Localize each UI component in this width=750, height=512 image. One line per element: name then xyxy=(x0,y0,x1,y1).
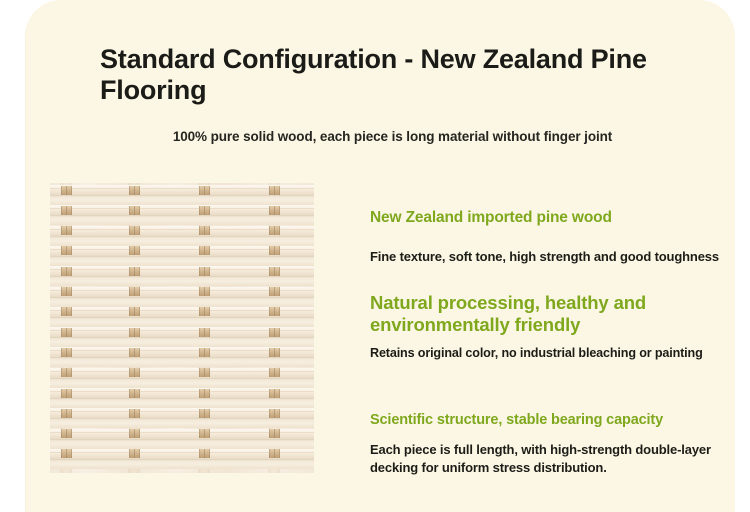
slat-cleat xyxy=(61,206,72,215)
slat-cleat xyxy=(61,368,72,377)
slat-cleat xyxy=(269,267,280,276)
feature-item-1: New Zealand imported pine wood Fine text… xyxy=(370,209,735,265)
slat-gap xyxy=(50,256,314,266)
slat-gap xyxy=(50,215,314,225)
slat-cleat xyxy=(129,368,140,377)
slat-cleat xyxy=(61,186,72,195)
slat-cleat xyxy=(129,206,140,215)
page-subtitle: 100% pure solid wood, each piece is long… xyxy=(100,129,685,144)
slat-cleat xyxy=(269,307,280,316)
slat-cleat xyxy=(129,409,140,418)
slat-cleat xyxy=(61,389,72,398)
page-title: Standard Configuration - New Zealand Pin… xyxy=(100,44,680,106)
slat-gap xyxy=(50,439,314,449)
slat-gap xyxy=(50,337,314,347)
slat-cleat xyxy=(269,186,280,195)
slat-cleat xyxy=(129,267,140,276)
slat-cleat xyxy=(129,328,140,337)
feature-item-2: Natural processing, healthy and environm… xyxy=(370,292,710,362)
slat-gap xyxy=(50,459,314,469)
slat-cleat xyxy=(199,246,210,255)
slat-cleat xyxy=(199,226,210,235)
slat-cleat xyxy=(61,267,72,276)
slat-gap xyxy=(50,317,314,327)
feature-heading: Natural processing, healthy and environm… xyxy=(370,292,710,335)
slat-cleat xyxy=(269,409,280,418)
slat-cleat xyxy=(129,287,140,296)
slat-gap xyxy=(50,236,314,246)
slat-cleat xyxy=(61,246,72,255)
product-feature-card: Standard Configuration - New Zealand Pin… xyxy=(25,0,735,512)
slat-cleat xyxy=(129,389,140,398)
slat-cleat xyxy=(269,226,280,235)
slat-cleat xyxy=(199,328,210,337)
slat-cleat xyxy=(269,368,280,377)
slat-cleat xyxy=(61,429,72,438)
feature-item-3: Scientific structure, stable bearing cap… xyxy=(370,412,735,476)
slat-cleat xyxy=(61,409,72,418)
slat-cleat xyxy=(61,449,72,458)
slat-cleat xyxy=(269,328,280,337)
slat-cleat xyxy=(61,348,72,357)
panel-edge-divider xyxy=(25,0,26,512)
slat-cleat xyxy=(199,429,210,438)
slat-cleat xyxy=(199,449,210,458)
slat-cleat xyxy=(129,246,140,255)
slat-cleat xyxy=(129,226,140,235)
slat-cleat xyxy=(199,287,210,296)
slat-cleat xyxy=(61,328,72,337)
product-image-slat-decking xyxy=(50,183,314,473)
slat-cleat xyxy=(199,307,210,316)
slat-cleat xyxy=(199,206,210,215)
slat-cleat xyxy=(269,287,280,296)
slat-cleat xyxy=(269,429,280,438)
slat-cleat xyxy=(199,389,210,398)
slat-cleat xyxy=(129,348,140,357)
feature-description: Retains original color, no industrial bl… xyxy=(370,345,735,361)
feature-heading: New Zealand imported pine wood xyxy=(370,209,735,228)
slat-cleat xyxy=(269,206,280,215)
feature-heading: Scientific structure, stable bearing cap… xyxy=(370,412,735,429)
slat-cleat xyxy=(199,368,210,377)
slat-gap xyxy=(50,398,314,408)
slat-cleat xyxy=(129,429,140,438)
slat-cleat xyxy=(269,449,280,458)
slat-cleat xyxy=(129,449,140,458)
slat-cleat xyxy=(269,389,280,398)
slat-gap xyxy=(50,418,314,428)
slat-cleat xyxy=(269,348,280,357)
feature-description: Fine texture, soft tone, high strength a… xyxy=(370,249,735,266)
feature-description: Each piece is full length, with high-str… xyxy=(370,441,735,476)
slat-gap xyxy=(50,357,314,367)
slat-cleat xyxy=(61,226,72,235)
slat-gap xyxy=(50,297,314,307)
slat-gap xyxy=(50,195,314,205)
slat-cleat xyxy=(269,246,280,255)
slat-cleat xyxy=(129,307,140,316)
slat-cleat xyxy=(129,186,140,195)
slat-cleat xyxy=(199,186,210,195)
slat-cleat xyxy=(199,348,210,357)
slat-cleat xyxy=(199,267,210,276)
slat-gap xyxy=(50,276,314,286)
slat-cleat xyxy=(199,409,210,418)
slat-cleat xyxy=(61,287,72,296)
slat-cleat xyxy=(61,307,72,316)
slat-gap xyxy=(50,378,314,388)
